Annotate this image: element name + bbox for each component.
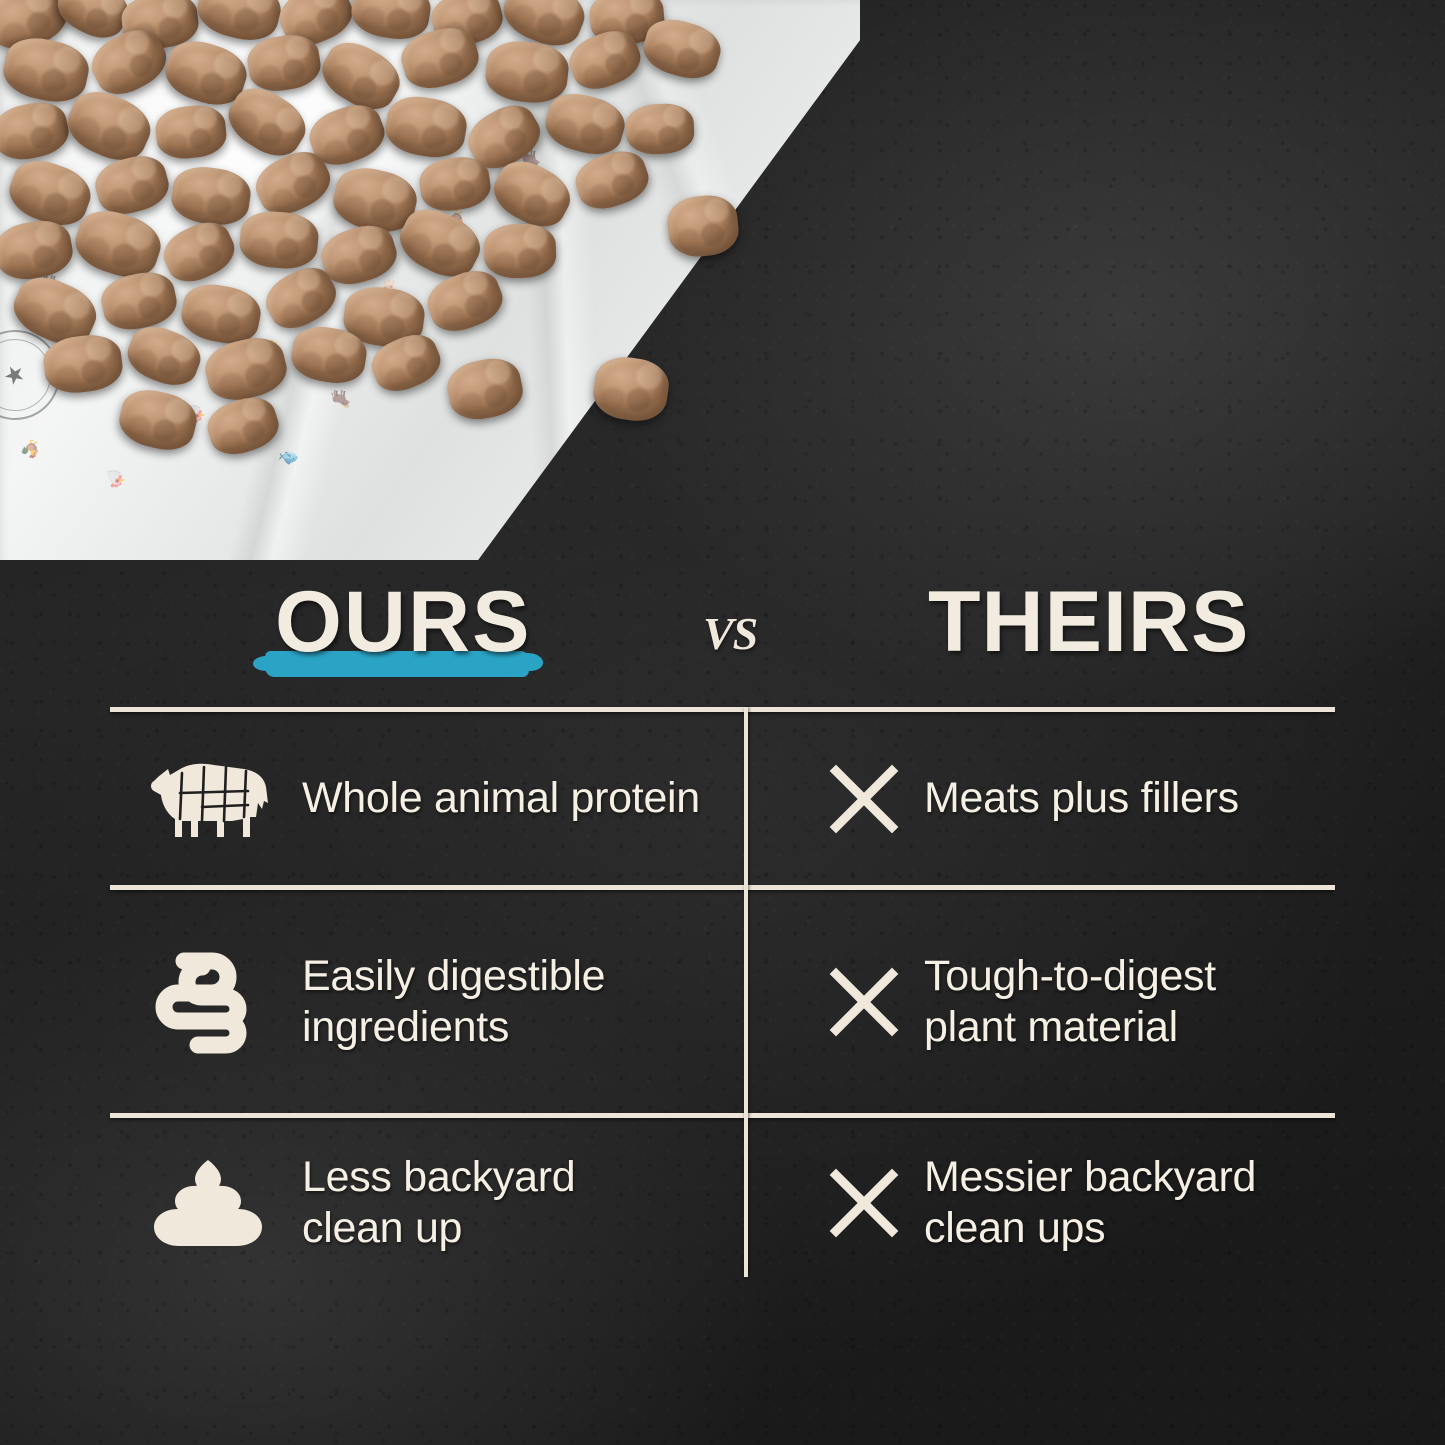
kibble-piece: [625, 102, 696, 155]
heading-vs: VS: [703, 607, 757, 660]
heading-ours: OURS: [275, 573, 531, 672]
row-3-ours-cell: Less backyard clean up: [110, 1118, 744, 1288]
row-2-theirs-cell: Tough-to-digest plant material: [744, 890, 1335, 1113]
kibble-piece: [483, 223, 557, 279]
table-row: Whole animal protein Meats plus fillers: [110, 712, 1335, 885]
x-mark-icon: [828, 763, 900, 835]
table-headings: OURS VS THEIRS: [110, 565, 1335, 707]
row-2-ours-text: Easily digestible ingredients: [302, 951, 605, 1052]
row-1-ours-text: Whole animal protein: [302, 773, 700, 824]
x-mark-icon: [828, 966, 900, 1038]
row-2-theirs-text: Tough-to-digest plant material: [924, 951, 1216, 1052]
table-row: Easily digestible ingredients Tough-to-d…: [110, 890, 1335, 1113]
product-photo: 🐂 🐕 🐔 🐟 🐓 🐂 🐕 🐔 🐓 🐂 🐕 🐟 🐓 🐂 🐟 ★: [0, 0, 860, 560]
infographic-canvas: 🐂 🐕 🐔 🐟 🐓 🐂 🐕 🐔 🐓 🐂 🐕 🐟 🐓 🐂 🐟 ★: [0, 0, 1445, 1445]
table-row: Less backyard clean up Messier backyard …: [110, 1118, 1335, 1288]
x-mark-icon: [828, 1167, 900, 1239]
row-1-ours-cell: Whole animal protein: [110, 712, 744, 885]
cow-butcher-chart-icon: [140, 751, 276, 847]
heading-theirs: THEIRS: [928, 573, 1249, 672]
table-grid: Whole animal protein Meats plus fillers: [110, 707, 1335, 1288]
comparison-table: OURS VS THEIRS: [110, 565, 1335, 1288]
poop-icon: [140, 1150, 276, 1256]
row-1-theirs-text: Meats plus fillers: [924, 773, 1239, 824]
row-1-theirs-cell: Meats plus fillers: [744, 712, 1335, 885]
row-2-ours-cell: Easily digestible ingredients: [110, 890, 744, 1113]
row-3-theirs-cell: Messier backyard clean ups: [744, 1118, 1335, 1288]
row-3-ours-text: Less backyard clean up: [302, 1152, 575, 1253]
intestine-icon: [140, 949, 276, 1055]
row-3-theirs-text: Messier backyard clean ups: [924, 1152, 1256, 1253]
